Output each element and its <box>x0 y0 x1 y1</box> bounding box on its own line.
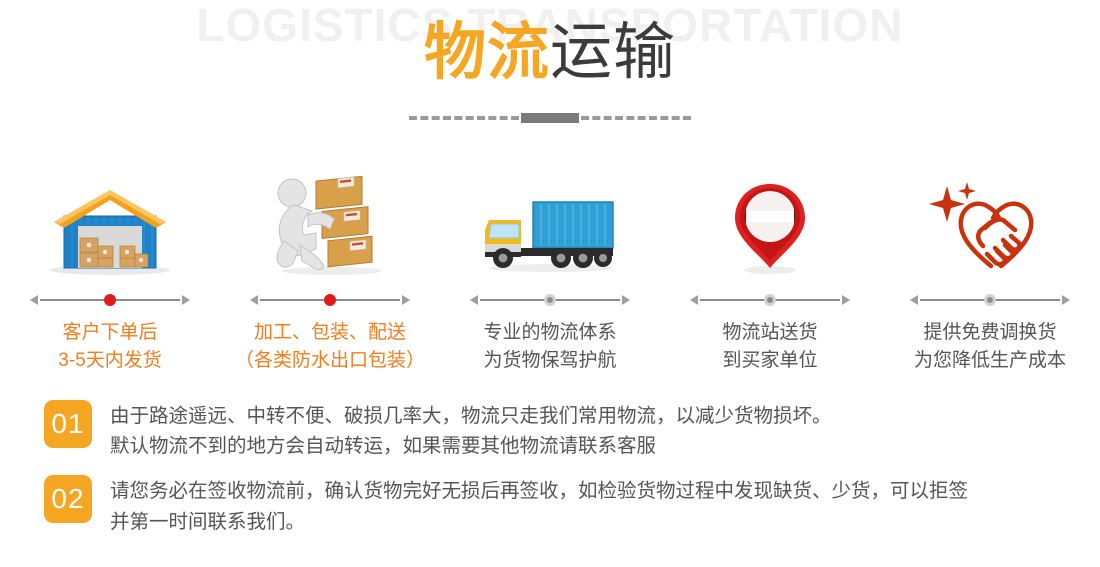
connector-arrow-right-icon <box>1062 295 1070 305</box>
note-line-2: 默认物流不到的地方会自动转运，如果需要其他物流请联系客服 <box>110 431 832 461</box>
note-badge-02: 02 <box>44 475 92 523</box>
step-caption-line-2: 3-5天内发货 <box>58 347 161 375</box>
connector-arrow-right-icon <box>182 295 190 305</box>
step-connector-5 <box>910 292 1070 308</box>
process-steps-row: 客户下单后 3-5天内发货 <box>0 168 1100 374</box>
warehouse-icon <box>40 168 180 276</box>
container-truck-icon <box>475 168 625 276</box>
process-step-4: 物流站送货 到买家单位 <box>660 168 880 374</box>
page-title: 物流运输 <box>0 22 1100 84</box>
note-line-1: 由于路途遥远、中转不便、破损几率大，物流只走我们常用物流，以减少货物损坏。 <box>110 401 832 431</box>
note-body: 请您务必在签收物流前，确认货物完好无损后再签收，如检验货物过程中发现缺货、少货，… <box>110 475 968 536</box>
step-caption-line-1: 专业的物流体系 <box>483 319 616 347</box>
process-step-1: 客户下单后 3-5天内发货 <box>0 168 220 374</box>
step-connector-3 <box>470 292 630 308</box>
divider-dash-right <box>581 116 691 120</box>
logistics-transportation-banner: LOGISTICS TRANSPORTATION 物流运输 <box>0 0 1100 567</box>
connector-arrow-left-icon <box>250 295 258 305</box>
process-step-2: 加工、包装、配送 （各类防水出口包装） <box>220 168 440 374</box>
connector-arrow-right-icon <box>622 295 630 305</box>
divider-dash-left <box>409 116 519 120</box>
connector-dot <box>984 294 996 306</box>
page-title-highlight: 物流 <box>424 18 550 87</box>
process-step-5: 提供免费调换货 为您降低生产成本 <box>880 168 1100 374</box>
connector-arrow-left-icon <box>690 295 698 305</box>
connector-arrow-left-icon <box>30 295 38 305</box>
connector-dot <box>764 294 776 306</box>
notes-section: 01 由于路途遥远、中转不便、破损几率大，物流只走我们常用物流，以减少货物损坏。… <box>44 400 1064 551</box>
step-connector-1 <box>30 292 190 308</box>
step-caption-line-1: 客户下单后 <box>58 319 161 347</box>
connector-arrow-left-icon <box>910 295 918 305</box>
process-step-3: 专业的物流体系 为货物保驾护航 <box>440 168 660 374</box>
step-caption-line-2: 到买家单位 <box>722 347 817 375</box>
step-caption-5: 提供免费调换货 为您降低生产成本 <box>914 319 1066 374</box>
worker-pushing-boxes-icon <box>260 168 400 276</box>
page-title-rest: 运输 <box>550 18 676 87</box>
step-caption-line-2: 为您降低生产成本 <box>914 347 1066 375</box>
title-divider <box>0 113 1100 123</box>
note-body: 由于路途遥远、中转不便、破损几率大，物流只走我们常用物流，以减少货物损坏。 默认… <box>110 400 832 461</box>
connector-arrow-right-icon <box>402 295 410 305</box>
connector-arrow-left-icon <box>470 295 478 305</box>
step-caption-2: 加工、包装、配送 （各类防水出口包装） <box>235 319 425 374</box>
step-caption-4: 物流站送货 到买家单位 <box>722 319 817 374</box>
step-caption-line-1: 加工、包装、配送 <box>235 319 425 347</box>
step-caption-line-2: （各类防水出口包装） <box>235 347 425 375</box>
step-caption-line-1: 物流站送货 <box>722 319 817 347</box>
connector-dot <box>324 294 336 306</box>
handshake-heart-icon <box>923 168 1058 276</box>
note-line-2: 并第一时间联系我们。 <box>110 507 968 537</box>
note-badge-01: 01 <box>44 400 92 448</box>
header: LOGISTICS TRANSPORTATION 物流运输 <box>0 0 1100 150</box>
map-pin-icon <box>715 168 825 276</box>
connector-arrow-right-icon <box>842 295 850 305</box>
connector-dot <box>544 294 556 306</box>
step-connector-4 <box>690 292 850 308</box>
step-caption-line-1: 提供免费调换货 <box>914 319 1066 347</box>
step-caption-line-2: 为货物保驾护航 <box>483 347 616 375</box>
connector-dot <box>104 294 116 306</box>
step-caption-1: 客户下单后 3-5天内发货 <box>58 319 161 374</box>
note-line-1: 请您务必在签收物流前，确认货物完好无损后再签收，如检验货物过程中发现缺货、少货，… <box>110 476 968 506</box>
step-connector-2 <box>250 292 410 308</box>
divider-center-block <box>521 113 579 123</box>
note-item: 01 由于路途遥远、中转不便、破损几率大，物流只走我们常用物流，以减少货物损坏。… <box>44 400 1064 461</box>
step-caption-3: 专业的物流体系 为货物保驾护航 <box>483 319 616 374</box>
sparkle-icon <box>929 182 976 222</box>
note-item: 02 请您务必在签收物流前，确认货物完好无损后再签收，如检验货物过程中发现缺货、… <box>44 475 1064 536</box>
